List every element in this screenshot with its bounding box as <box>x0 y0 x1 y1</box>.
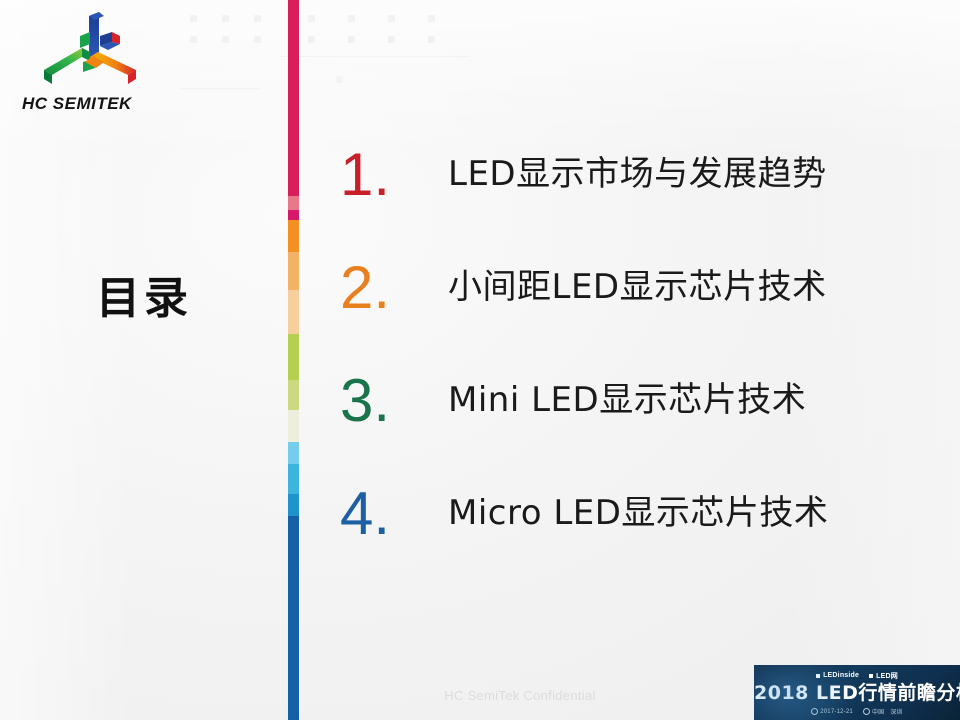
page-title: 目录 <box>0 262 288 326</box>
slide-canvas: HC SEMITEK 目录 1. LED显示市场与发展趋势 2. 小间距LED显… <box>0 0 960 720</box>
color-bar-segment-12 <box>288 516 299 720</box>
list-item[interactable]: 3. Mini LED显示芯片技术 <box>340 344 940 457</box>
color-bar-segment-5 <box>288 290 299 334</box>
event-banner-brands: LEDinside LED网 <box>754 665 960 681</box>
logo-wordmark: HC SEMITEK <box>22 94 162 114</box>
square-bullet-icon <box>869 674 873 678</box>
logo: HC SEMITEK <box>16 8 166 118</box>
toc-label-4: Micro LED显示芯片技术 <box>448 494 828 533</box>
square-bullet-icon <box>816 674 820 678</box>
background-watermark <box>180 0 650 120</box>
toc-label-3: Mini LED显示芯片技术 <box>448 381 806 420</box>
event-banner: LEDinside LED网 2018 LED行情前瞻分析会 2017-12-2… <box>754 665 960 720</box>
event-date-label: 2017-12-21 <box>820 709 853 715</box>
event-meta: 2017-12-21 中国 深圳 <box>754 706 960 716</box>
ledinside-label: LEDinside <box>823 672 859 679</box>
color-bar-segment-11 <box>288 494 299 516</box>
clock-icon <box>811 708 818 715</box>
toc-label-2: 小间距LED显示芯片技术 <box>448 268 827 307</box>
color-bar-segment-2 <box>288 210 299 220</box>
table-of-contents: 1. LED显示市场与发展趋势 2. 小间距LED显示芯片技术 3. Mini … <box>340 118 940 570</box>
color-bar-segment-4 <box>288 252 299 290</box>
color-bar-segment-3 <box>288 220 299 252</box>
event-location: 中国 深圳 <box>863 707 903 716</box>
event-country-label: 中国 <box>872 707 884 716</box>
color-bar-segment-10 <box>288 464 299 494</box>
lednet-label: LED网 <box>876 671 898 681</box>
event-city-label: 深圳 <box>890 707 902 716</box>
toc-label-1: LED显示市场与发展趋势 <box>448 155 827 194</box>
toc-number-1: 1. <box>340 145 448 205</box>
color-bar-segment-7 <box>288 380 299 410</box>
color-bar-segment-8 <box>288 410 299 442</box>
color-bar-segment-6 <box>288 334 299 380</box>
hc-semitek-mark-icon <box>38 10 148 88</box>
color-bar-segment-9 <box>288 442 299 464</box>
ledinside-brand: LEDinside <box>816 672 859 679</box>
confidential-footer: HC SemiTek Confidential <box>300 688 740 703</box>
lednet-brand: LED网 <box>869 671 898 681</box>
color-bar-segment-0 <box>288 0 299 196</box>
color-bar-segment-1 <box>288 196 299 210</box>
toc-number-2: 2. <box>340 258 448 318</box>
rainbow-accent-bar <box>288 0 299 720</box>
event-title: 2018 LED行情前瞻分析会 <box>754 681 960 706</box>
list-item[interactable]: 2. 小间距LED显示芯片技术 <box>340 231 940 344</box>
list-item[interactable]: 1. LED显示市场与发展趋势 <box>340 118 940 231</box>
pin-icon <box>863 708 870 715</box>
toc-number-4: 4. <box>340 484 448 544</box>
toc-number-3: 3. <box>340 371 448 431</box>
event-date: 2017-12-21 <box>811 708 853 715</box>
list-item[interactable]: 4. Micro LED显示芯片技术 <box>340 457 940 570</box>
